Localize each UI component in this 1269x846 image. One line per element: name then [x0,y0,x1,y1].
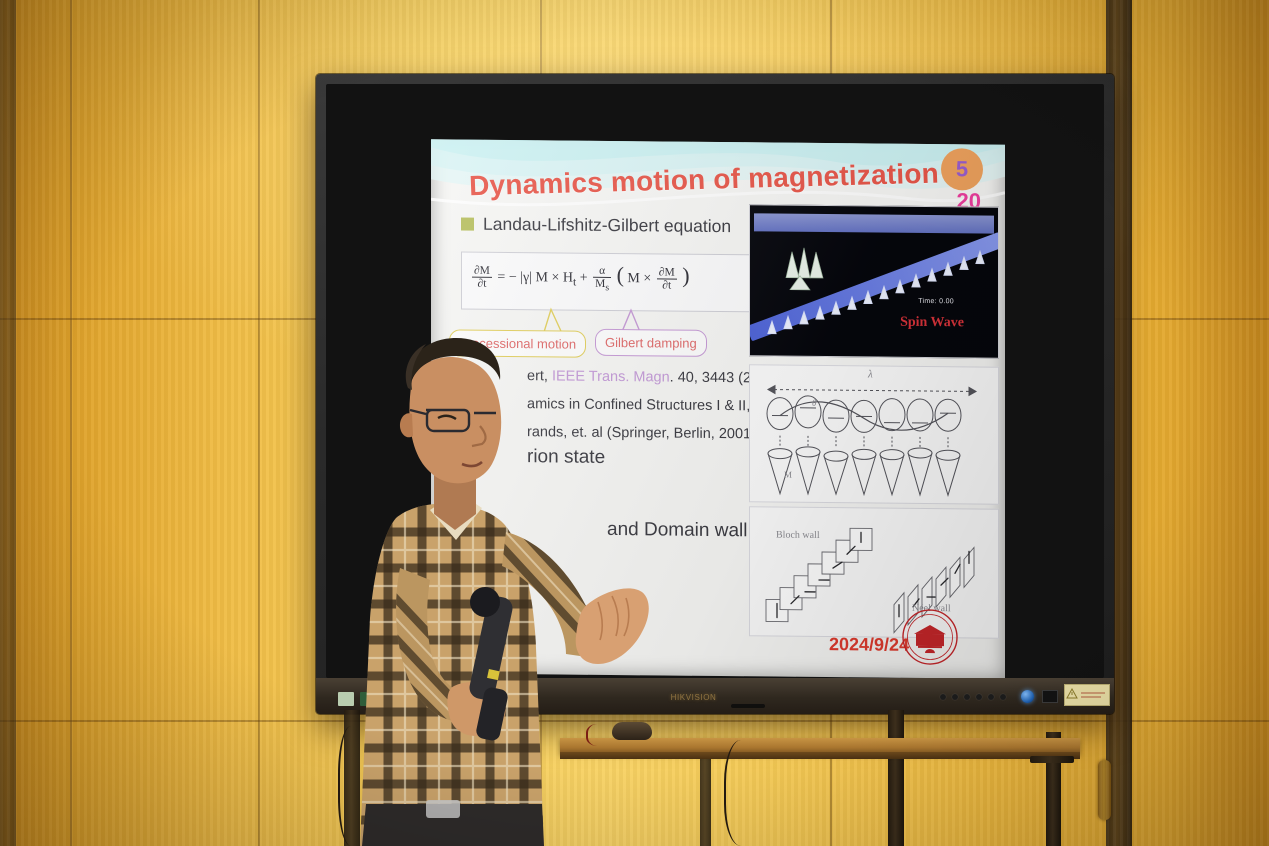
warning-triangle-icon [1065,685,1109,705]
stand-leg [700,752,711,846]
angle-symbol: θ [812,398,816,408]
spin-precession-diagram: λ θ M [749,364,999,504]
control-indicator [976,694,982,700]
spin-wave-video[interactable]: Time: 0.00 Spin Wave [749,204,999,358]
equation-dm-num: ∂M [657,267,677,280]
mouse-cable [586,724,614,746]
wall-dark-column [0,0,16,846]
llg-equation: ∂M ∂t = − |γ| M × Ht + α Ms ( M × ∂M [470,261,690,294]
equation-alpha-den: Ms [593,277,611,292]
display-brand-logo: HIKVISION [646,692,741,704]
slide-page-current: 5 [956,156,968,182]
slide-date: 2024/9/24 [829,634,909,656]
control-indicator [964,694,970,700]
control-indicator [988,694,994,700]
stand-crossbar [1030,756,1074,763]
domain-wall-drawing [750,507,998,637]
lecture-hall-photo: Dynamics motion of magnetization 5 20 La… [0,0,1269,846]
equation-lhs-num: ∂M [472,265,492,278]
equation-dm-den: ∂t [657,280,677,292]
equation-lhs-den: ∂t [472,278,492,290]
ir-receiver [731,704,765,708]
slide-page-badge: 5 [941,148,983,190]
control-indicator [952,694,958,700]
computer-mouse[interactable] [612,722,652,740]
domain-wall-diagram: Bloch wall Néel wall [749,506,999,638]
video-spin-arrows [750,205,998,357]
control-indicator [940,694,946,700]
control-indicator [1000,694,1006,700]
bullet-label-0: Landau-Lifshitz-Gilbert equation [483,214,731,237]
equipment-shelf-edge [560,752,1080,759]
power-cable [338,726,370,846]
equation-plus: + [580,271,588,286]
equation-box: ∂M ∂t = − |γ| M × Ht + α Ms ( M × ∂M [461,252,763,313]
bloch-wall-label: Bloch wall [776,530,820,541]
equation-lhs: ∂M ∂t [472,265,492,290]
magnetization-symbol: M [784,470,792,480]
equation-rhs: = − |γ| M × H [497,270,573,286]
equation-sub-eff: t [573,275,576,288]
equation-alpha-frac: α Ms [593,264,611,292]
warning-label [1064,684,1110,706]
equation-term2: M × [627,271,651,286]
cabinet-handle[interactable] [1098,760,1111,820]
equation-ms: M [595,277,605,289]
bullet-marker [461,218,474,231]
power-cable [724,740,766,846]
equation-dmdt: ∂M ∂t [657,267,677,292]
equation-ms-sub: s [605,282,609,293]
equation-alpha-num: α [593,264,611,277]
presenter [330,318,660,846]
equation-paren-close: ) [682,263,689,288]
equation-paren-open: ( [617,262,624,287]
university-seal-logo [901,608,959,667]
usb-port[interactable] [1042,690,1058,703]
stand-post [888,710,904,846]
spin-precession-drawing [750,365,998,503]
power-button[interactable] [1021,690,1034,703]
video-time-label: Time: 0.00 [918,298,954,305]
wavelength-symbol: λ [868,368,873,380]
video-caption: Spin Wave [900,315,964,332]
